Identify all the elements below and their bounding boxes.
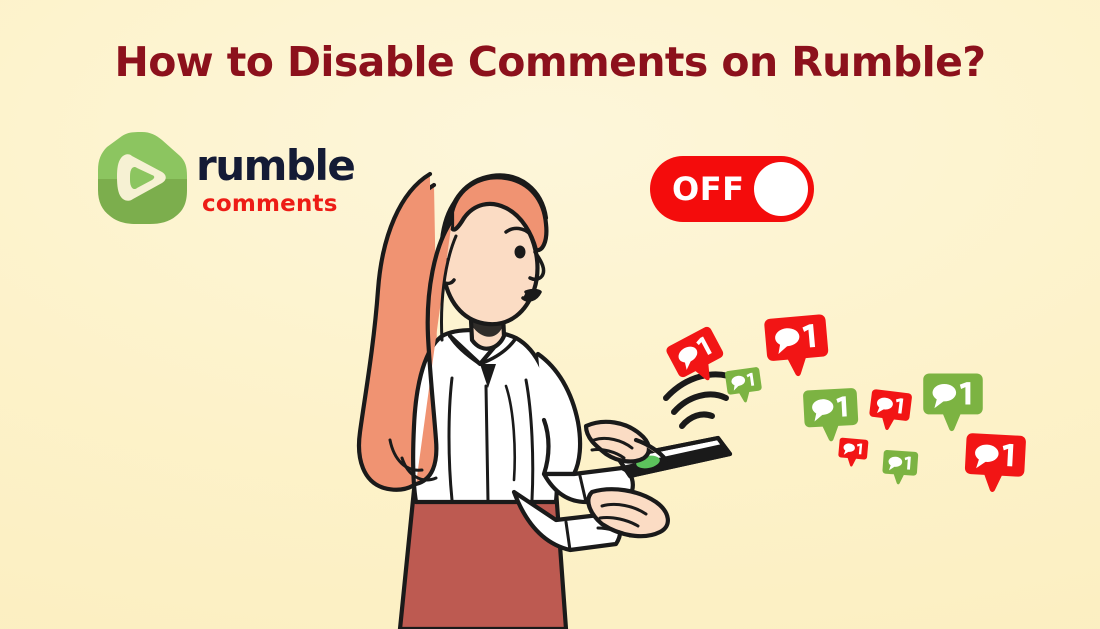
badge-green-3 bbox=[922, 372, 984, 432]
toggle-knob[interactable] bbox=[754, 162, 808, 216]
rumble-comments-label: comments bbox=[202, 193, 338, 216]
poster-canvas: How to Disable Comments on Rumble? rumbl… bbox=[0, 0, 1100, 629]
badge-green-2 bbox=[802, 387, 861, 444]
badge-green-1 bbox=[724, 366, 765, 406]
badge-red-3 bbox=[867, 388, 914, 434]
badge-red-5 bbox=[962, 431, 1027, 494]
badge-red-4 bbox=[837, 437, 869, 469]
rumble-play-mark-icon bbox=[96, 130, 188, 226]
badge-red-2 bbox=[762, 312, 831, 379]
rumble-logo-lockup: rumble comments bbox=[96, 130, 356, 230]
badge-green-4 bbox=[881, 449, 919, 486]
page-title: How to Disable Comments on Rumble? bbox=[0, 38, 1100, 86]
